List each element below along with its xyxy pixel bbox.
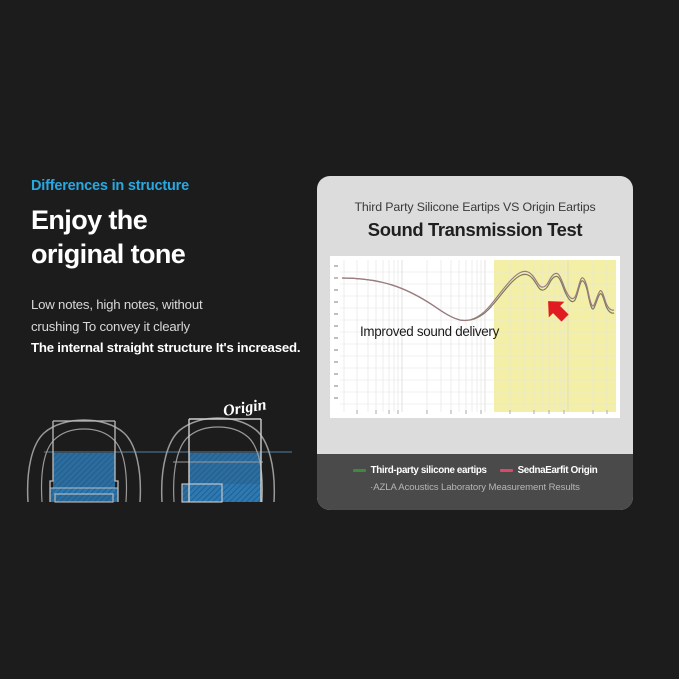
body-line-2: crushing To convey it clearly [31,316,313,338]
legend-item-third-party: Third-party silicone eartips [353,465,487,476]
page-root: Differences in structure Enjoy the origi… [0,0,679,679]
headline-line-1: Enjoy the [31,204,313,238]
diagram-origin-eartip: Origin [162,396,275,502]
legend-dash-pink-icon [500,469,513,472]
section-eyebrow: Differences in structure [31,178,313,195]
sound-transmission-test-panel: Third Party Silicone Eartips VS Origin E… [317,176,633,510]
body-line-1: Low notes, high notes, without [31,294,313,316]
chart-legend-bar: Third-party silicone eartips SednaEarfit… [317,454,633,510]
legend-label-third-party: Third-party silicone eartips [371,465,487,476]
legend-items: Third-party silicone eartips SednaEarfit… [317,454,633,476]
legend-label-sednaearfit-origin: SednaEarfit Origin [518,465,598,476]
left-content-column: Differences in structure Enjoy the origi… [31,178,313,359]
eartip-cross-section-diagrams: Origin [22,392,314,516]
origin-script-label: Origin [222,396,268,420]
chart-annotation: Improved sound delivery [360,324,499,339]
diagram-third-party-eartip [28,420,141,502]
panel-title: Sound Transmission Test [317,219,633,241]
legend-dash-green-icon [353,469,366,472]
page-title: Enjoy the original tone [31,204,313,272]
body-copy: Low notes, high notes, without crushing … [31,294,313,359]
frequency-response-plot: Improved sound delivery [330,256,620,418]
third-party-bore-fill [50,453,118,502]
panel-subtitle: Third Party Silicone Eartips VS Origin E… [317,176,633,214]
body-line-3: The internal straight structure It's inc… [31,337,313,359]
legend-item-sednaearfit-origin: SednaEarfit Origin [500,465,598,476]
legend-footnote: ·AZLA Acoustics Laboratory Measurement R… [317,482,633,493]
headline-line-2: original tone [31,238,313,272]
